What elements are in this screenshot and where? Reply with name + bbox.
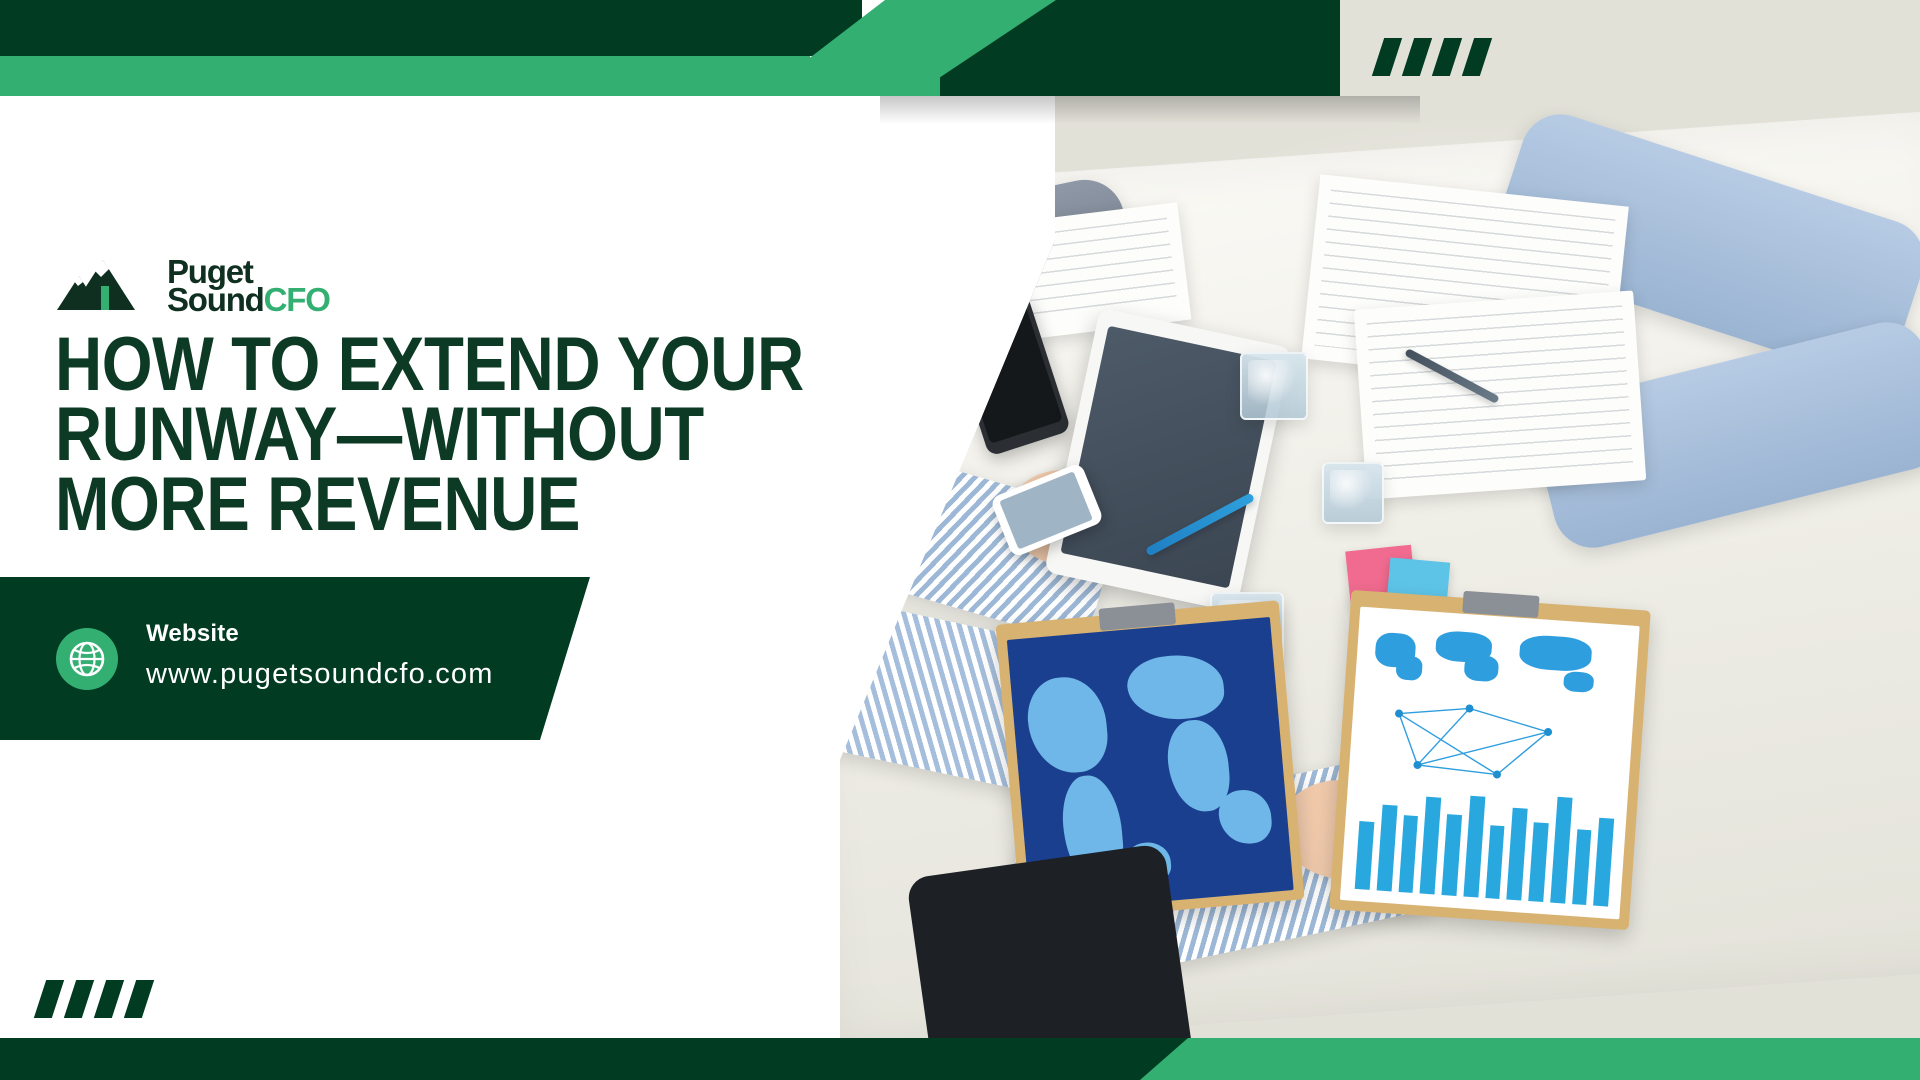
- clipboard-bar-chart: [1329, 590, 1651, 930]
- headline-line-1: HOW TO EXTEND YOUR: [55, 330, 769, 400]
- decorative-dashes-bottom: [40, 980, 148, 1018]
- website-url[interactable]: www.pugetsoundcfo.com: [146, 658, 494, 691]
- website-text-group: Website www.pugetsoundcfo.com: [146, 620, 494, 691]
- top-band-dark: [0, 0, 862, 56]
- water-glass: [1240, 352, 1308, 420]
- top-band-green: [0, 56, 810, 96]
- website-label: Website: [146, 620, 494, 648]
- mountain-barchart-icon: [57, 258, 153, 314]
- decorative-dashes-top: [1378, 38, 1486, 76]
- page-title: HOW TO EXTEND YOUR RUNWAY—WITHOUT MORE R…: [55, 330, 769, 540]
- mini-world-map: [1367, 617, 1621, 696]
- headline-line-3: MORE REVENUE: [55, 470, 769, 540]
- logo-sound-text: Sound: [167, 281, 264, 318]
- bottom-band-dark: [0, 1038, 1060, 1080]
- dash-mark: [94, 980, 124, 1018]
- poster-canvas: Puget SoundCFO HOW TO EXTEND YOUR RUNWAY…: [0, 0, 1920, 1080]
- dash-mark: [64, 980, 94, 1018]
- photo-background: [840, 0, 1920, 1080]
- dash-mark: [124, 980, 154, 1018]
- globe-icon: [56, 628, 118, 690]
- dash-mark: [1432, 38, 1462, 76]
- brand-logo[interactable]: Puget SoundCFO: [57, 258, 330, 315]
- notebook: [1354, 290, 1647, 499]
- dash-mark: [1402, 38, 1432, 76]
- hand: [902, 200, 1012, 286]
- top-band-dark-right: [1280, 0, 1340, 96]
- logo-line-2: SoundCFO: [167, 286, 330, 314]
- bar-chart-bars: [1355, 779, 1616, 906]
- headline-line-2: RUNWAY—WITHOUT: [55, 400, 769, 470]
- meeting-photo: [840, 0, 1920, 1080]
- dash-mark: [34, 980, 64, 1018]
- water-glass: [1322, 462, 1384, 524]
- bottom-band-green: [1188, 1038, 1920, 1080]
- logo-wordmark: Puget SoundCFO: [167, 258, 330, 315]
- logo-cfo-text: CFO: [264, 281, 330, 318]
